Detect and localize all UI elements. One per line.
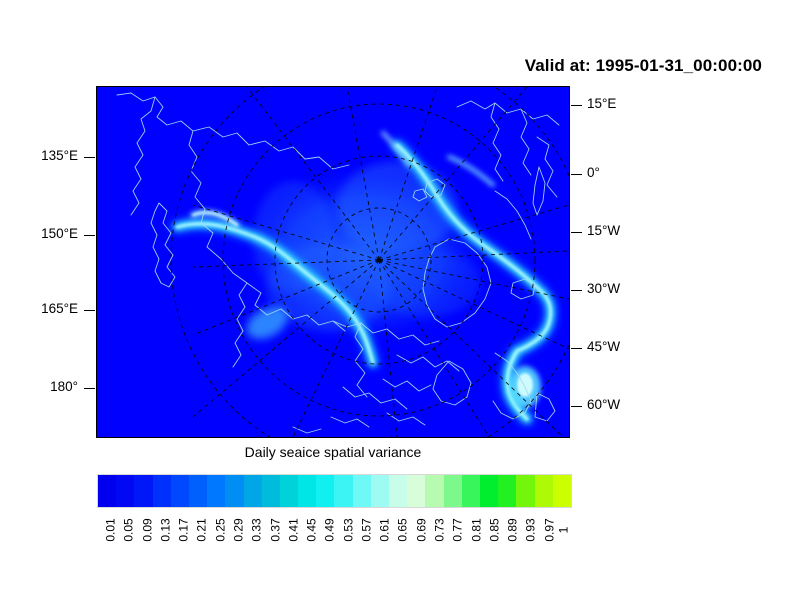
colorbar-tick-6: 0.25: [209, 509, 223, 539]
colorbar-cell-5: [189, 475, 207, 507]
colorbar-cell-15: [371, 475, 389, 507]
right-axis-tick: [571, 105, 582, 106]
colorbar-cell-22: [498, 475, 516, 507]
north-pole-marker: [377, 258, 380, 261]
colorbar-tick-8: 0.33: [245, 509, 259, 539]
colorbar-cell-13: [334, 475, 352, 507]
colorbar-cell-1: [116, 475, 134, 507]
colorbar-cell-18: [425, 475, 443, 507]
right-axis-tick: [571, 406, 582, 407]
colorbar-tick-24: 0.97: [538, 509, 552, 539]
left-axis-label-2: 165°E: [18, 302, 78, 316]
colorbar-tick-25: 1: [556, 509, 570, 539]
colorbar-tick-0: 0.01: [99, 509, 113, 539]
colorbar-tick-22: 0.89: [501, 509, 515, 539]
colorbar-tick-3: 0.13: [154, 509, 168, 539]
colorbar-tick-7: 0.29: [227, 509, 241, 539]
colorbar-cell-3: [153, 475, 171, 507]
colorbar-tick-10: 0.41: [282, 509, 296, 539]
left-axis-tick: [84, 388, 95, 389]
colorbar-tick-9: 0.37: [264, 509, 278, 539]
left-axis-label-3: 180°: [18, 380, 78, 394]
map-plot-area: [96, 86, 570, 438]
colorbar-tick-16: 0.65: [391, 509, 405, 539]
left-axis-tick: [84, 310, 95, 311]
colorbar-cell-24: [535, 475, 553, 507]
right-axis-label-4: 45°W: [587, 340, 620, 354]
colorbar-cell-20: [462, 475, 480, 507]
colorbar-cell-21: [480, 475, 498, 507]
colorbar-cell-8: [244, 475, 262, 507]
right-axis-label-1: 0°: [587, 166, 600, 180]
colorbar-tick-18: 0.73: [428, 509, 442, 539]
colorbar-cell-16: [389, 475, 407, 507]
colorbar-cell-2: [134, 475, 152, 507]
colorbar-tick-labels: 0.010.050.090.130.170.210.250.290.330.37…: [97, 509, 572, 569]
right-axis-tick: [571, 290, 582, 291]
colorbar-tick-2: 0.09: [136, 509, 150, 539]
colorbar-tick-1: 0.05: [117, 509, 131, 539]
right-axis-label-2: 15°W: [587, 224, 620, 238]
colorbar-cell-11: [298, 475, 316, 507]
colorbar-cell-6: [207, 475, 225, 507]
colorbar-cell-25: [553, 475, 571, 507]
colorbar: [97, 474, 572, 508]
left-axis-label-1: 150°E: [18, 227, 78, 241]
colorbar-tick-5: 0.21: [190, 509, 204, 539]
colorbar-cell-12: [316, 475, 334, 507]
colorbar-tick-17: 0.69: [410, 509, 424, 539]
left-axis-label-0: 135°E: [18, 149, 78, 163]
right-axis-tick: [571, 232, 582, 233]
colorbar-tick-12: 0.49: [318, 509, 332, 539]
colorbar-tick-15: 0.61: [373, 509, 387, 539]
colorbar-cell-7: [225, 475, 243, 507]
colorbar-cell-9: [262, 475, 280, 507]
colorbar-cell-17: [407, 475, 425, 507]
right-axis-tick: [571, 174, 582, 175]
colorbar-cell-19: [444, 475, 462, 507]
right-axis-tick: [571, 348, 582, 349]
page-title: Valid at: 1995-01-31_00:00:00: [0, 56, 762, 76]
right-axis-label-5: 60°W: [587, 398, 620, 412]
colorbar-cell-0: [98, 475, 116, 507]
right-axis-label-0: 15°E: [587, 97, 616, 111]
right-axis-label-3: 30°W: [587, 282, 620, 296]
colorbar-cell-10: [280, 475, 298, 507]
colorbar-tick-20: 0.81: [465, 509, 479, 539]
colorbar-cell-14: [353, 475, 371, 507]
colorbar-tick-23: 0.93: [519, 509, 533, 539]
colorbar-tick-4: 0.17: [172, 509, 186, 539]
left-axis-tick: [84, 235, 95, 236]
left-axis-tick: [84, 157, 95, 158]
colorbar-tick-21: 0.85: [483, 509, 497, 539]
colorbar-tick-14: 0.57: [355, 509, 369, 539]
map-caption: Daily seaice spatial variance: [96, 444, 570, 460]
colorbar-tick-19: 0.77: [446, 509, 460, 539]
colorbar-cell-4: [171, 475, 189, 507]
map-canvas: [97, 87, 569, 437]
colorbar-tick-13: 0.53: [337, 509, 351, 539]
colorbar-cell-23: [516, 475, 534, 507]
colorbar-tick-11: 0.45: [300, 509, 314, 539]
